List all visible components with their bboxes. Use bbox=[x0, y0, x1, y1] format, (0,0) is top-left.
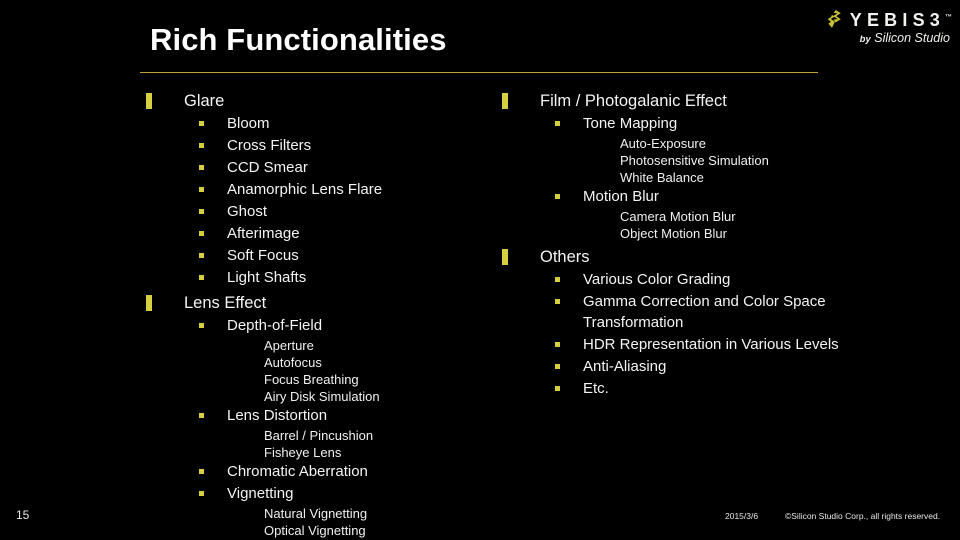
outline-item-label: HDR Representation in Various Levels bbox=[583, 334, 839, 355]
outline-item-soft-focus: Soft Focus bbox=[146, 245, 496, 266]
outline-group-film-photogalanic-effect: Film / Photogalanic EffectTone MappingAu… bbox=[502, 90, 902, 242]
outline-heading-label: Film / Photogalanic Effect bbox=[540, 90, 727, 112]
logo-wordmark-text: YEBIS3 bbox=[850, 10, 945, 30]
bullet-square-icon bbox=[199, 253, 204, 258]
outline-item-label: Etc. bbox=[583, 378, 609, 399]
bullet-square-icon bbox=[199, 275, 204, 280]
outline-item-ghost: Ghost bbox=[146, 201, 496, 222]
content-column-right: Film / Photogalanic EffectTone MappingAu… bbox=[502, 90, 902, 403]
outline-item-label: CCD Smear bbox=[227, 157, 308, 178]
outline-item-ccd-smear: CCD Smear bbox=[146, 157, 496, 178]
footer-copyright: ©Silicon Studio Corp., all rights reserv… bbox=[785, 511, 940, 522]
outline-item-cross-filters: Cross Filters bbox=[146, 135, 496, 156]
outline-subitem-autofocus: Autofocus bbox=[146, 354, 496, 371]
outline-item-label: Anamorphic Lens Flare bbox=[227, 179, 382, 200]
slide-canvas: Rich Functionalities YEBIS3™ by Silicon … bbox=[0, 0, 960, 540]
yebis-logo-mark-icon bbox=[825, 9, 845, 29]
outline-subitem-optical-vignetting: Optical Vignetting bbox=[146, 522, 496, 539]
outline-item-light-shafts: Light Shafts bbox=[146, 267, 496, 288]
outline-item-anamorphic-lens-flare: Anamorphic Lens Flare bbox=[146, 179, 496, 200]
content-column-left: GlareBloomCross FiltersCCD SmearAnamorph… bbox=[146, 90, 496, 540]
logo-byline: by Silicon Studio bbox=[794, 31, 952, 47]
outline-item-chromatic-aberration: Chromatic Aberration bbox=[146, 461, 496, 482]
outline-item-label: Gamma Correction and Color Space Transfo… bbox=[583, 291, 902, 333]
bullet-square-icon bbox=[199, 413, 204, 418]
outline-item-tone-mapping: Tone Mapping bbox=[502, 113, 902, 134]
outline-group-others: OthersVarious Color GradingGamma Correct… bbox=[502, 246, 902, 399]
outline-item-label: Light Shafts bbox=[227, 267, 306, 288]
outline-group-glare: GlareBloomCross FiltersCCD SmearAnamorph… bbox=[146, 90, 496, 288]
outline-subitem-camera-motion-blur: Camera Motion Blur bbox=[502, 208, 902, 225]
outline-item-label: Depth-of-Field bbox=[227, 315, 322, 336]
outline-item-label: Chromatic Aberration bbox=[227, 461, 368, 482]
logo-byline-brand: Silicon Studio bbox=[874, 31, 950, 45]
outline-item-label: Cross Filters bbox=[227, 135, 311, 156]
outline-subitem-photosensitive-simulation: Photosensitive Simulation bbox=[502, 152, 902, 169]
bullet-square-icon bbox=[199, 187, 204, 192]
bullet-square-icon bbox=[199, 323, 204, 328]
outline-item-label: Soft Focus bbox=[227, 245, 299, 266]
outline-subitem-white-balance: White Balance bbox=[502, 169, 902, 186]
bullet-bar-icon bbox=[502, 93, 508, 109]
logo-byline-prefix: by bbox=[860, 34, 871, 45]
bullet-square-icon bbox=[555, 342, 560, 347]
outline-heading-lens-effect: Lens Effect bbox=[146, 292, 496, 314]
bullet-bar-icon bbox=[146, 295, 152, 311]
slide-number: 15 bbox=[16, 508, 29, 523]
outline-heading-label: Others bbox=[540, 246, 590, 268]
outline-item-motion-blur: Motion Blur bbox=[502, 186, 902, 207]
outline-subitem-object-motion-blur: Object Motion Blur bbox=[502, 225, 902, 242]
outline-item-bloom: Bloom bbox=[146, 113, 496, 134]
bullet-square-icon bbox=[199, 165, 204, 170]
footer-date: 2015/3/6 bbox=[725, 511, 758, 522]
outline-item-label: Motion Blur bbox=[583, 186, 659, 207]
outline-item-lens-distortion: Lens Distortion bbox=[146, 405, 496, 426]
outline-item-label: Afterimage bbox=[227, 223, 300, 244]
bullet-square-icon bbox=[555, 386, 560, 391]
bullet-square-icon bbox=[555, 299, 560, 304]
outline-item-vignetting: Vignetting bbox=[146, 483, 496, 504]
outline-heading-label: Lens Effect bbox=[184, 292, 266, 314]
outline-item-etc: Etc. bbox=[502, 378, 902, 399]
outline-subitem-focus-breathing: Focus Breathing bbox=[146, 371, 496, 388]
outline-subitem-aperture: Aperture bbox=[146, 337, 496, 354]
page-title: Rich Functionalities bbox=[150, 20, 447, 60]
bullet-bar-icon bbox=[502, 249, 508, 265]
outline-item-label: Various Color Grading bbox=[583, 269, 730, 290]
outline-item-label: Bloom bbox=[227, 113, 270, 134]
outline-item-depth-of-field: Depth-of-Field bbox=[146, 315, 496, 336]
outline-group-lens-effect: Lens EffectDepth-of-FieldApertureAutofoc… bbox=[146, 292, 496, 540]
bullet-square-icon bbox=[555, 194, 560, 199]
bullet-square-icon bbox=[199, 143, 204, 148]
outline-item-label: Tone Mapping bbox=[583, 113, 677, 134]
bullet-square-icon bbox=[555, 121, 560, 126]
outline-item-anti-aliasing: Anti-Aliasing bbox=[502, 356, 902, 377]
outline-subitem-barrel-pincushion: Barrel / Pincushion bbox=[146, 427, 496, 444]
bullet-square-icon bbox=[199, 231, 204, 236]
bullet-square-icon bbox=[199, 469, 204, 474]
outline-heading-others: Others bbox=[502, 246, 902, 268]
outline-heading-film-photogalanic-effect: Film / Photogalanic Effect bbox=[502, 90, 902, 112]
outline-heading-glare: Glare bbox=[146, 90, 496, 112]
trademark-symbol: ™ bbox=[945, 14, 952, 21]
bullet-square-icon bbox=[555, 277, 560, 282]
bullet-bar-icon bbox=[146, 93, 152, 109]
outline-subitem-airy-disk-simulation: Airy Disk Simulation bbox=[146, 388, 496, 405]
outline-subitem-natural-vignetting: Natural Vignetting bbox=[146, 505, 496, 522]
outline-item-afterimage: Afterimage bbox=[146, 223, 496, 244]
outline-heading-label: Glare bbox=[184, 90, 224, 112]
yebis-logo: YEBIS3™ by Silicon Studio bbox=[794, 8, 952, 52]
outline-item-label: Lens Distortion bbox=[227, 405, 327, 426]
bullet-square-icon bbox=[199, 491, 204, 496]
outline-subitem-auto-exposure: Auto-Exposure bbox=[502, 135, 902, 152]
outline-item-label: Anti-Aliasing bbox=[583, 356, 666, 377]
outline-item-hdr-representation-in-various-levels: HDR Representation in Various Levels bbox=[502, 334, 902, 355]
bullet-square-icon bbox=[199, 209, 204, 214]
outline-subitem-fisheye-lens: Fisheye Lens bbox=[146, 444, 496, 461]
outline-item-various-color-grading: Various Color Grading bbox=[502, 269, 902, 290]
title-divider bbox=[140, 72, 818, 73]
logo-wordmark: YEBIS3™ bbox=[850, 8, 952, 30]
outline-item-gamma-correction-and-color-space-transformat: Gamma Correction and Color Space Transfo… bbox=[502, 291, 902, 333]
outline-item-label: Vignetting bbox=[227, 483, 293, 504]
bullet-square-icon bbox=[555, 364, 560, 369]
logo-row: YEBIS3™ bbox=[794, 8, 952, 30]
bullet-square-icon bbox=[199, 121, 204, 126]
outline-item-label: Ghost bbox=[227, 201, 267, 222]
